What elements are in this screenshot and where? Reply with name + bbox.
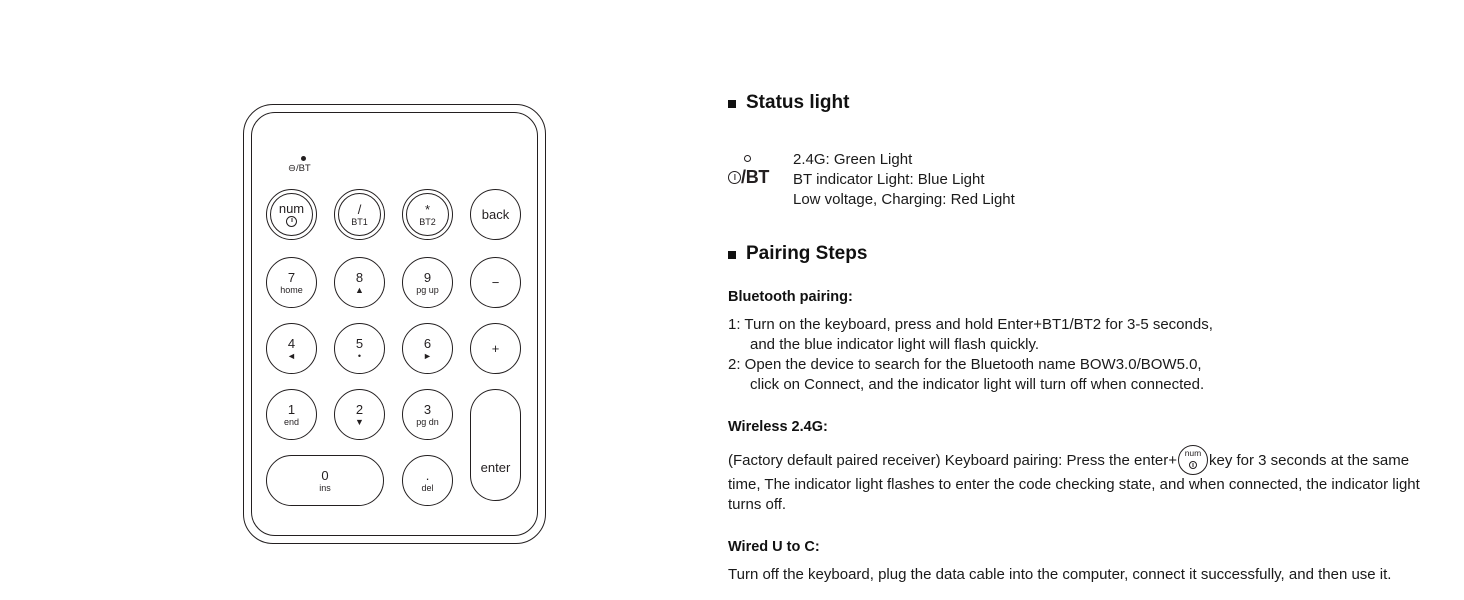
key-bt1-label: BT1 <box>351 217 368 227</box>
key-3-label: 3 <box>424 403 431 416</box>
pairing-steps-heading-label: Pairing Steps <box>746 243 867 265</box>
arrow-up-icon: ▲ <box>355 285 364 295</box>
key-9-pgup[interactable]: 9 pg up <box>402 257 453 308</box>
wireless-text-a: (Factory default paired receiver) Keyboa… <box>728 452 1177 469</box>
wireless-text-b: key <box>1209 452 1232 469</box>
bluetooth-step-1: 1: Turn on the keyboard, press and hold … <box>728 315 1428 355</box>
page-root: ⊖/BT num / BT1 * BT2 back <box>0 0 1464 600</box>
bt-marker: /BT <box>728 167 769 188</box>
key-del-label: del <box>421 483 433 493</box>
status-line-bt: BT indicator Light: Blue Light <box>793 170 1428 190</box>
wired-text-b: successfully, and then use it. <box>1201 566 1392 583</box>
key-enter[interactable]: enter <box>470 389 521 501</box>
key-bt2-label: BT2 <box>419 217 436 227</box>
status-light-heading-label: Status light <box>746 92 849 114</box>
num-lock-icon-small <box>728 171 741 184</box>
key-6-right[interactable]: 6 ► <box>402 323 453 374</box>
key-num-lock-label: num <box>279 202 304 215</box>
key-7-home[interactable]: 7 home <box>266 257 317 308</box>
square-bullet-icon <box>728 100 736 108</box>
bluetooth-step-1-line-2: and the blue indicator light will flash … <box>728 335 1428 355</box>
key-asterisk-bt2[interactable]: * BT2 <box>402 189 453 240</box>
key-5-label: 5 <box>356 337 363 350</box>
key-num-lock[interactable]: num <box>266 189 317 240</box>
key-ins-label: ins <box>319 483 331 493</box>
bluetooth-step-2-line-1: 2: Open the device to search for the Blu… <box>728 356 1202 373</box>
status-light-block: /BT 2.4G: Green Light BT indicator Light… <box>728 150 1428 210</box>
key-dot-del[interactable]: . del <box>402 455 453 506</box>
key-pgup-label: pg up <box>416 285 439 295</box>
inline-num-lock-glyph <box>1189 461 1197 469</box>
inline-num-key-icon: num <box>1178 445 1208 475</box>
keypad-illustration: ⊖/BT num / BT1 * BT2 back <box>243 104 548 546</box>
bt-marker-label: /BT <box>741 167 769 187</box>
key-5-dot-icon: • <box>358 351 361 361</box>
instructions-column: Status light /BT 2.4G: Green Light BT in… <box>728 92 1428 585</box>
status-line-lowvoltage: Low voltage, Charging: Red Light <box>793 190 1428 210</box>
key-minus[interactable]: − <box>470 257 521 308</box>
key-3-pgdn[interactable]: 3 pg dn <box>402 389 453 440</box>
keypad-key-grid: num / BT1 * BT2 back 7 home <box>266 189 530 529</box>
arrow-down-icon: ▼ <box>355 417 364 427</box>
inline-num-key-label: num <box>1179 449 1207 458</box>
key-pgdn-label: pg dn <box>416 417 439 427</box>
status-line-24g: 2.4G: Green Light <box>793 150 1428 170</box>
wired-u-to-c-text: Turn off the keyboard, plug the data cab… <box>728 565 1428 585</box>
key-4-label: 4 <box>288 337 295 350</box>
key-plus-label: + <box>492 342 500 355</box>
key-0-ins[interactable]: 0 ins <box>266 455 384 506</box>
key-slash-label: / <box>358 203 362 216</box>
key-5[interactable]: 5 • <box>334 323 385 374</box>
status-light-heading: Status light <box>728 92 1428 114</box>
num-lock-icon <box>286 216 297 227</box>
wireless-24g-title: Wireless 2.4G: <box>728 419 1428 435</box>
led-circle-icon <box>744 155 751 162</box>
key-home-label: home <box>280 285 303 295</box>
key-9-label: 9 <box>424 271 431 284</box>
key-8-label: 8 <box>356 271 363 284</box>
status-led-dot <box>301 156 306 161</box>
wireless-24g-text: (Factory default paired receiver) Keyboa… <box>728 445 1428 515</box>
key-6-label: 6 <box>424 337 431 350</box>
key-8-up[interactable]: 8 ▲ <box>334 257 385 308</box>
key-2-label: 2 <box>356 403 363 416</box>
wired-u-to-c-title: Wired U to C: <box>728 539 1428 555</box>
keypad-body: ⊖/BT num / BT1 * BT2 back <box>243 104 548 546</box>
key-0-label: 0 <box>321 469 328 482</box>
key-end-label: end <box>284 417 299 427</box>
key-asterisk-label: * <box>425 203 430 216</box>
wired-text-a: Turn off the keyboard, plug the data cab… <box>728 566 1197 583</box>
bluetooth-step-2: 2: Open the device to search for the Blu… <box>728 355 1428 395</box>
key-plus[interactable]: + <box>470 323 521 374</box>
arrow-left-icon: ◄ <box>287 351 296 361</box>
key-dot-label: . <box>426 469 430 482</box>
key-backspace[interactable]: back <box>470 189 521 240</box>
status-led-label: ⊖/BT <box>288 163 311 174</box>
key-2-down[interactable]: 2 ▼ <box>334 389 385 440</box>
arrow-right-icon: ► <box>423 351 432 361</box>
key-4-left[interactable]: 4 ◄ <box>266 323 317 374</box>
key-1-end[interactable]: 1 end <box>266 389 317 440</box>
bluetooth-pairing-title: Bluetooth pairing: <box>728 289 1428 305</box>
key-7-label: 7 <box>288 271 295 284</box>
bluetooth-step-2-line-2: click on Connect, and the indicator ligh… <box>728 375 1428 395</box>
key-backspace-label: back <box>482 208 509 221</box>
pairing-steps-heading: Pairing Steps <box>728 243 1428 265</box>
pairing-steps-block: Pairing Steps Bluetooth pairing: 1: Turn… <box>728 243 1428 585</box>
status-light-rows: /BT 2.4G: Green Light BT indicator Light… <box>728 150 1428 210</box>
key-enter-label: enter <box>481 461 511 474</box>
square-bullet-icon-2 <box>728 251 736 259</box>
key-slash-bt1[interactable]: / BT1 <box>334 189 385 240</box>
key-minus-label: − <box>492 276 500 289</box>
key-1-label: 1 <box>288 403 295 416</box>
bluetooth-step-1-line-1: 1: Turn on the keyboard, press and hold … <box>728 316 1213 333</box>
